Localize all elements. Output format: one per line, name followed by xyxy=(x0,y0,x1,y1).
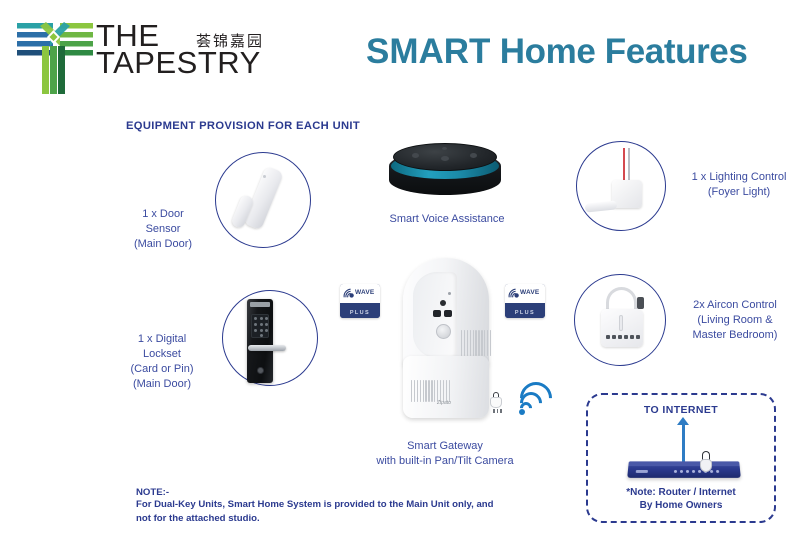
digital-lockset-icon xyxy=(247,299,273,383)
internet-panel: TO INTERNET *Note: Router / Internet By … xyxy=(586,393,776,523)
router-brand-mark xyxy=(636,470,648,473)
internet-panel-note: *Note: Router / Internet By Home Owners xyxy=(588,486,774,512)
router-power-adapter-icon xyxy=(696,451,714,473)
gateway-camera-lens xyxy=(436,324,451,339)
lockset-handle-icon xyxy=(248,345,286,351)
page-title: SMART Home Features xyxy=(366,32,747,72)
tapestry-logo-icon xyxy=(16,16,94,96)
lighting-control-label-line2: (Foyer Light) xyxy=(678,185,800,200)
page-title-rest: Home Features xyxy=(490,32,747,71)
gateway-light-sensor xyxy=(440,300,446,306)
aircon-control-icon xyxy=(575,275,665,365)
lighting-module-antenna xyxy=(585,200,618,212)
plug-head xyxy=(490,397,502,408)
gateway-camera-head xyxy=(413,272,457,358)
door-sensor-label-line3: (Main Door) xyxy=(120,237,206,252)
door-sensor-label-line2: Sensor xyxy=(120,222,206,237)
door-sensor-circle xyxy=(215,152,311,248)
aircon-led-row xyxy=(606,335,640,339)
zwave-badge-face-left: WAVE xyxy=(340,284,380,303)
adapter-body xyxy=(700,459,712,472)
brand-chinese-name: 荟锦嘉园 xyxy=(196,30,264,51)
aircon-control-label-line2: (Living Room & xyxy=(672,313,798,328)
footer-note-line2: not for the attached studio. xyxy=(136,512,556,526)
lighting-wire-neutral xyxy=(628,148,630,182)
page-title-strong: SMART xyxy=(366,32,490,71)
lockset-keyhole-icon xyxy=(257,367,264,374)
zwave-badge-plus-right: PLUS xyxy=(505,310,545,316)
internet-panel-title: TO INTERNET xyxy=(588,404,774,416)
gateway-status-led xyxy=(448,292,451,295)
door-sensor-label: 1 x Door Sensor (Main Door) xyxy=(120,207,206,252)
gateway-vent-lower xyxy=(411,380,450,402)
gateway-body xyxy=(403,258,489,368)
router-device-icon xyxy=(627,461,741,477)
brand-logo: THE TAPESTRY 荟锦嘉园 xyxy=(14,12,264,92)
gateway-power-plug-icon xyxy=(489,392,503,408)
voice-assistant-label: Smart Voice Assistance xyxy=(368,212,526,227)
smart-gateway-icon: Zipato xyxy=(385,252,497,424)
lighting-control-label-line1: 1 x Lighting Control xyxy=(678,170,800,185)
gateway-base xyxy=(403,356,489,418)
footer-note-line1: For Dual-Key Units, Smart Home System is… xyxy=(136,498,556,512)
footer-note-heading: NOTE:- xyxy=(136,487,556,498)
smart-home-features-slide: THE TAPESTRY 荟锦嘉园 SMART Home Features EQ… xyxy=(0,0,800,547)
up-arrow-shaft xyxy=(682,423,685,463)
zwave-plus-badge-right: WAVE PLUS xyxy=(505,284,545,318)
digital-lockset-label-line1: 1 x Digital xyxy=(112,332,212,347)
zwave-badge-face-right: WAVE xyxy=(505,284,545,303)
digital-lockset-label-line3: (Card or Pin) xyxy=(112,362,212,377)
digital-lockset-label-line2: Lockset xyxy=(112,347,212,362)
zwave-badge-word-right: WAVE xyxy=(520,289,539,296)
door-sensor-led-icon xyxy=(263,175,266,178)
zwave-signal-icon xyxy=(508,288,519,299)
smart-gateway-label-line1: Smart Gateway xyxy=(352,439,538,454)
gateway-brand-mark: Zipato xyxy=(437,400,451,406)
router-top-face xyxy=(628,461,739,466)
internet-note-line2: By Home Owners xyxy=(588,499,774,512)
internet-note-line1: *Note: Router / Internet xyxy=(588,486,774,499)
zwave-plus-badge-left: WAVE PLUS xyxy=(340,284,380,318)
zwave-badge-word-left: WAVE xyxy=(355,289,374,296)
lighting-control-icon xyxy=(577,142,665,230)
brand-wordmark-line2: TAPESTRY xyxy=(96,49,261,76)
aircon-connector xyxy=(637,297,644,309)
aircon-ir-window xyxy=(619,315,623,331)
smart-gateway-label-line2: with built-in Pan/Tilt Camera xyxy=(352,454,538,469)
digital-lockset-label: 1 x Digital Lockset (Card or Pin) (Main … xyxy=(112,332,212,391)
zwave-badge-plus-left: PLUS xyxy=(340,310,380,316)
gateway-ir-led-left xyxy=(433,310,441,317)
lighting-control-label: 1 x Lighting Control (Foyer Light) xyxy=(678,170,800,200)
aircon-control-label-line3: Master Bedroom) xyxy=(672,328,798,343)
door-sensor-label-line1: 1 x Door xyxy=(120,207,206,222)
digital-lockset-label-line4: (Main Door) xyxy=(112,377,212,392)
smart-gateway-label: Smart Gateway with built-in Pan/Tilt Cam… xyxy=(352,439,538,469)
gateway-ir-led-right xyxy=(444,310,452,317)
aircon-control-label-line1: 2x Aircon Control xyxy=(672,298,798,313)
footer-note: NOTE:- For Dual-Key Units, Smart Home Sy… xyxy=(136,487,556,526)
lockset-keypad-icon xyxy=(251,314,269,338)
lockset-card-reader xyxy=(250,302,270,307)
lighting-wire-live xyxy=(623,148,625,182)
smart-speaker-icon xyxy=(389,143,501,201)
digital-lockset-circle xyxy=(222,290,318,386)
wifi-signal-icon xyxy=(520,372,562,414)
aircon-control-label: 2x Aircon Control (Living Room & Master … xyxy=(672,298,798,343)
gateway-vent-upper xyxy=(461,330,491,356)
zwave-signal-icon xyxy=(343,288,354,299)
section-heading: EQUIPMENT PROVISION FOR EACH UNIT xyxy=(126,120,360,132)
lighting-control-circle xyxy=(576,141,666,231)
speaker-top-panel xyxy=(393,143,497,171)
aircon-control-circle xyxy=(574,274,666,366)
